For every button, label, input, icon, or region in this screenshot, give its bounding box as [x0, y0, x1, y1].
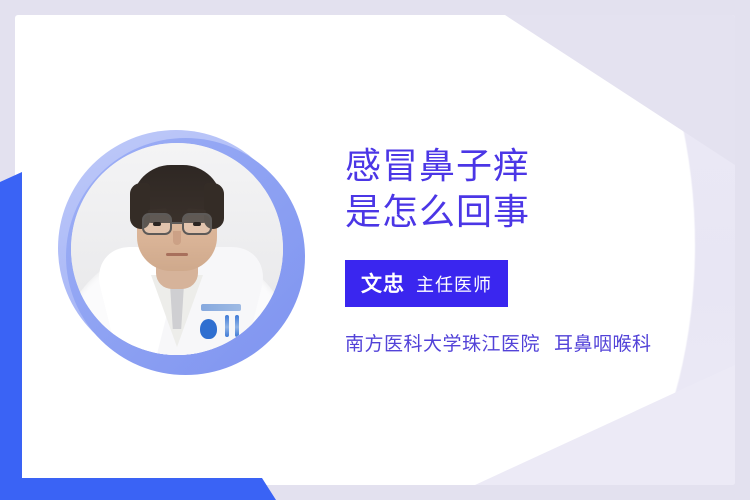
portrait-eye-right [193, 222, 201, 226]
portrait-mouth [166, 253, 188, 256]
portrait-coat-logo [201, 304, 241, 311]
portrait-glasses-bridge [172, 222, 182, 224]
headline-line-2: 是怎么回事 [345, 189, 725, 235]
poster-canvas: 感冒鼻子痒 是怎么回事 文忠主任医师 南方医科大学珠江医院耳鼻咽喉科 [0, 0, 750, 500]
portrait-pocket-pen-two [235, 315, 239, 337]
doctor-affiliation: 南方医科大学珠江医院耳鼻咽喉科 [345, 329, 725, 356]
doctor-portrait-photo [71, 143, 283, 355]
text-block: 感冒鼻子痒 是怎么回事 文忠主任医师 南方医科大学珠江医院耳鼻咽喉科 [345, 143, 725, 356]
left-accent-bar [0, 172, 22, 486]
headline-line-1: 感冒鼻子痒 [345, 145, 530, 186]
content-card: 感冒鼻子痒 是怎么回事 文忠主任医师 南方医科大学珠江医院耳鼻咽喉科 [15, 15, 735, 485]
portrait-pocket-pen-one [225, 315, 229, 337]
department-name: 耳鼻咽喉科 [554, 334, 652, 355]
doctor-title: 主任医师 [416, 275, 492, 295]
hospital-name: 南方医科大学珠江医院 [345, 334, 540, 355]
avatar [58, 128, 305, 375]
portrait-eye-left [153, 222, 161, 226]
doctor-name: 文忠 [361, 273, 405, 296]
bottom-accent-bar [0, 478, 276, 500]
portrait-coat-badge [200, 319, 217, 339]
portrait-nose [173, 231, 181, 245]
doctor-name-badge: 文忠主任医师 [345, 260, 508, 307]
headline: 感冒鼻子痒 是怎么回事 [345, 143, 725, 235]
